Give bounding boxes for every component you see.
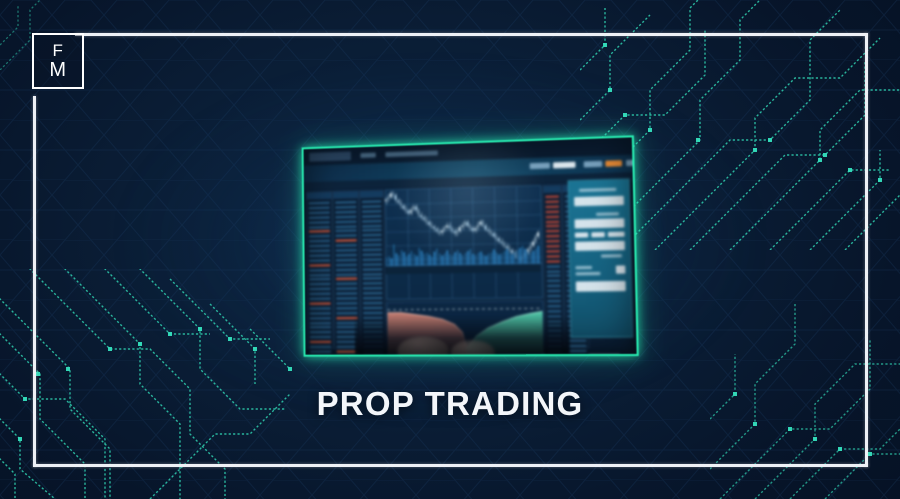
hero-image-wrapper — [302, 135, 639, 356]
circuit-bottom-left — [0, 269, 300, 499]
terminal-content — [304, 137, 637, 354]
fm-logo: F M — [32, 33, 84, 89]
frame-bottom-border — [33, 464, 868, 467]
fm-logo-letter-f: F — [53, 42, 64, 59]
frame-top-border — [75, 33, 868, 36]
data-row — [364, 355, 383, 356]
fm-logo-letter-m: M — [49, 60, 66, 80]
page-title: PROP TRADING — [0, 385, 900, 423]
data-row — [337, 355, 358, 356]
screen-vignette — [304, 137, 637, 354]
promo-banner: F M — [0, 0, 900, 499]
data-row — [310, 355, 331, 356]
trading-terminal-photo — [302, 135, 639, 356]
